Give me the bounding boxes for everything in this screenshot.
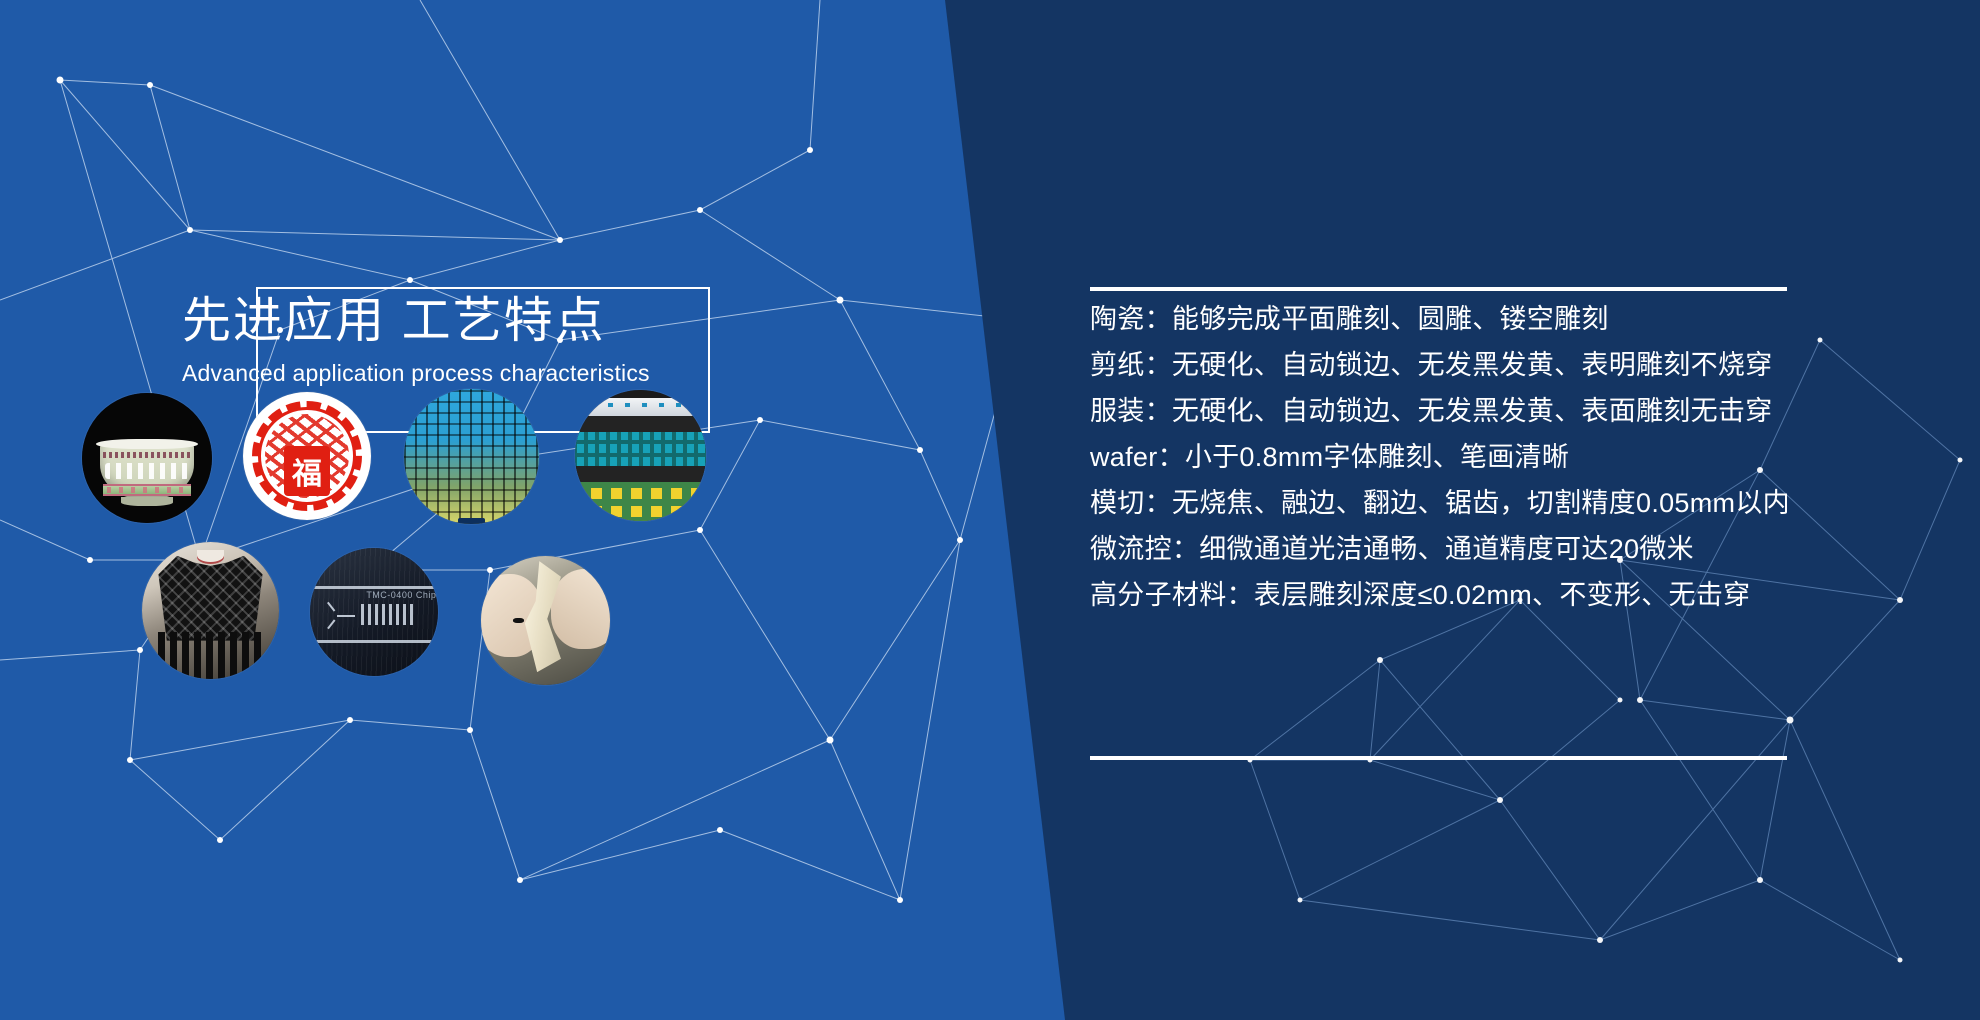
band-dark-lower (575, 466, 706, 482)
spec-line-garment: 服装：无硬化、自动锁边、无发黑发黄、表面雕刻无击穿 (1090, 398, 1920, 425)
chip-comb-channels (361, 604, 415, 624)
banner-stage: 先进应用 工艺特点 Advanced application process c… (0, 0, 1980, 1020)
garment-image (142, 542, 279, 679)
chip-y-junction (327, 602, 355, 630)
band-yellow-wells (575, 482, 706, 521)
chip-label: TMC-0400 Chip (366, 590, 436, 600)
wafer-die-grid (404, 389, 539, 524)
microfluidic-bands-image (575, 390, 706, 521)
gallery-item-wafer[interactable] (404, 389, 539, 524)
gallery-item-polymer-film[interactable] (481, 556, 610, 685)
band-white (575, 398, 706, 416)
band-teal-channels (575, 432, 706, 466)
papercut-image: 福 (243, 392, 371, 520)
gallery-item-channel-chip[interactable]: TMC-0400 Chip (310, 548, 438, 676)
chip-edge-line-bottom (313, 640, 436, 643)
bowl-engraved-pattern (105, 463, 188, 479)
band-dark-upper (575, 416, 706, 432)
papercut-fu-glyph: 福 (284, 446, 330, 496)
gallery-item-microfluidic-bands[interactable] (575, 390, 706, 521)
spec-line-microfluidic: 微流控：细微通道光洁通畅、通道精度可达20微米 (1090, 536, 1920, 563)
gallery-item-papercut[interactable]: 福 (243, 392, 371, 520)
bowl-base (121, 497, 173, 506)
spec-line-diecut: 模切：无烧焦、融边、翻边、锯齿，切割精度0.05mm以内 (1090, 490, 1920, 517)
garment-neckline (197, 550, 224, 564)
sample-gallery: 福 (0, 0, 1000, 1020)
spec-divider-top (1090, 287, 1787, 291)
wafer-image (404, 389, 539, 524)
gallery-item-garment[interactable] (142, 542, 279, 679)
bowl-rim (96, 439, 197, 449)
garment-perforated-panel (158, 556, 262, 641)
film-cut-mark (513, 618, 523, 623)
spec-line-papercut: 剪纸：无硬化、自动锁边、无发黑发黄、表明雕刻不烧穿 (1090, 352, 1920, 379)
channel-chip-image: TMC-0400 Chip (310, 548, 438, 676)
chip-edge-line-top (313, 586, 436, 589)
spec-list: 陶瓷：能够完成平面雕刻、圆雕、镂空雕刻 剪纸：无硬化、自动锁边、无发黑发黄、表明… (1090, 306, 1920, 609)
spec-line-wafer: wafer：小于0.8mm字体雕刻、笔画清晰 (1090, 444, 1920, 471)
ceramic-bowl-image (82, 393, 212, 523)
gallery-item-ceramic-bowl[interactable] (82, 393, 212, 523)
bowl-upper-band (103, 452, 191, 459)
spec-divider-bottom (1090, 756, 1787, 760)
spec-line-ceramic: 陶瓷：能够完成平面雕刻、圆雕、镂空雕刻 (1090, 306, 1920, 333)
garment-fringe (158, 632, 262, 679)
wafer-notch (458, 518, 485, 524)
spec-line-polymer: 高分子材料：表层雕刻深度≤0.02mm、不变形、无击穿 (1090, 582, 1920, 609)
bowl-lower-band (103, 484, 191, 496)
polymer-film-image (481, 556, 610, 685)
